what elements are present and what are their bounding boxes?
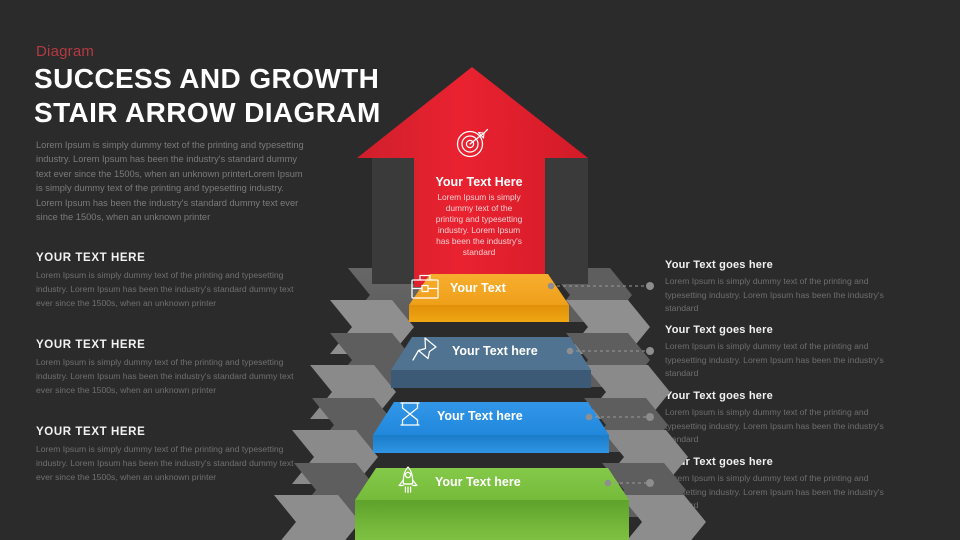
step-slate[interactable]: Your Text here xyxy=(391,337,591,388)
step-label: Your Text here xyxy=(435,475,521,489)
step-orange[interactable]: Your Text xyxy=(409,274,569,322)
step-green[interactable]: Your Text here xyxy=(355,467,629,540)
arrow-head-body-line: industry. Lorem Ipsum xyxy=(438,225,520,235)
arrow-head-heading: Your Text Here xyxy=(435,175,522,189)
arrow-head-body-line: dummy text of the xyxy=(446,203,513,213)
shaft-left-shadow xyxy=(372,158,416,284)
slide-canvas: Diagram SUCCESS AND GROWTH STAIR ARROW D… xyxy=(0,0,960,540)
step-label: Your Text xyxy=(450,281,507,295)
arrow-head-body-line: has been the industry's xyxy=(436,236,522,246)
arrow-head-body-line: Lorem Ipsum is simply xyxy=(437,192,521,202)
step-blue[interactable]: Your Text here xyxy=(373,402,609,453)
step-label: Your Text here xyxy=(437,409,523,423)
stair-arrow-diagram: Your Text Here Lorem Ipsum is simply dum… xyxy=(0,0,960,540)
step-label: Your Text here xyxy=(452,344,538,358)
shaft-right-shadow xyxy=(544,158,588,284)
arrow-head-body-line: printing and typesetting xyxy=(436,214,523,224)
arrow-head-body-line: standard xyxy=(463,247,496,257)
